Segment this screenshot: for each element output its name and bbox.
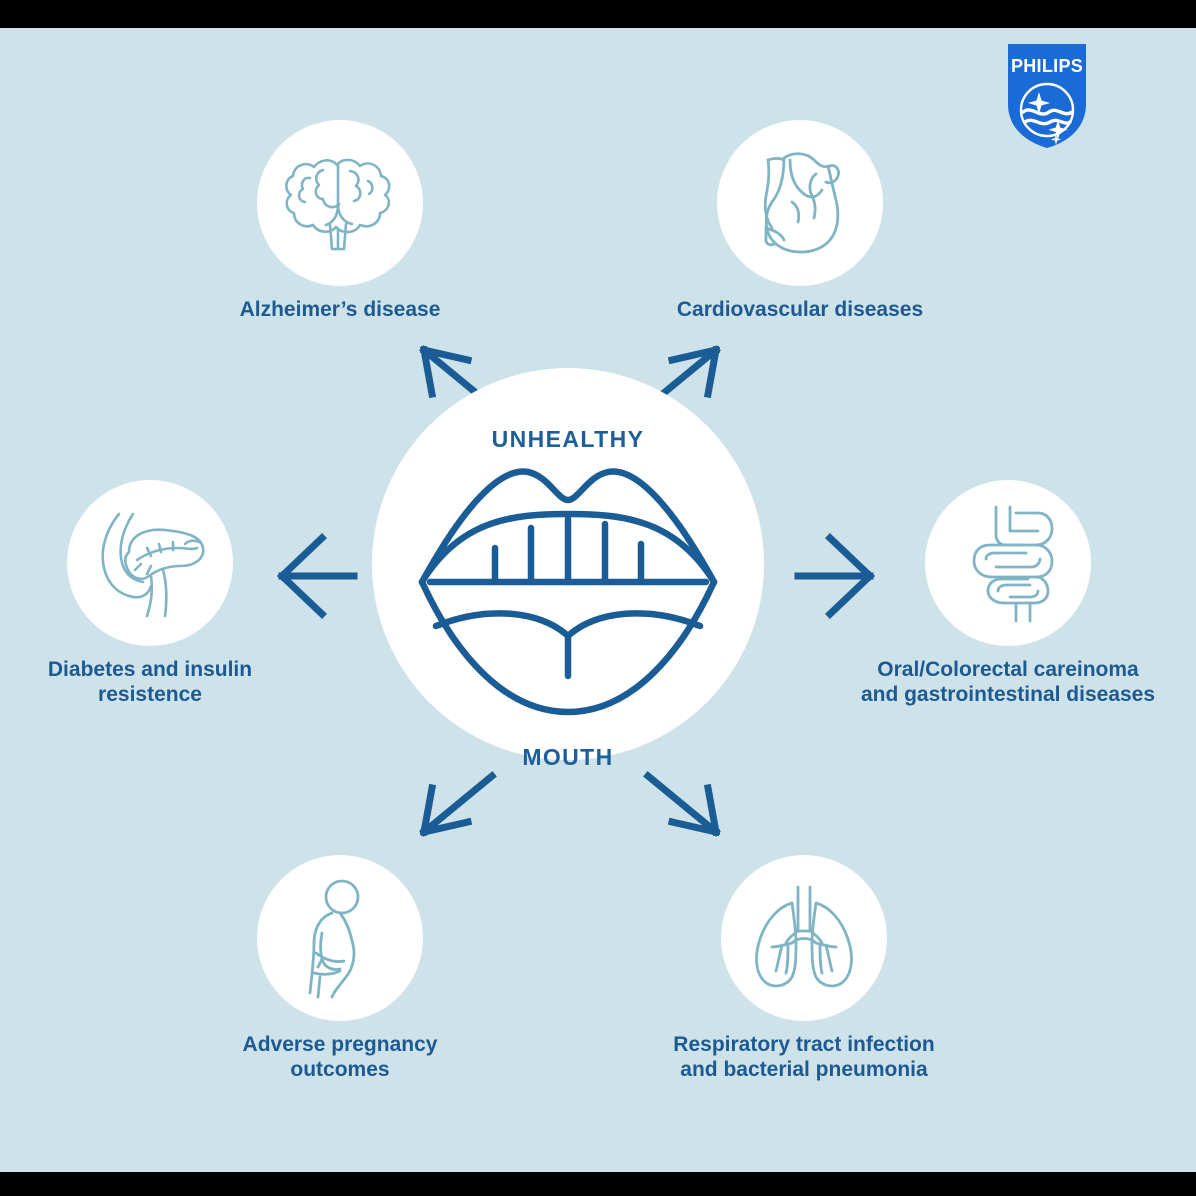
node-pregnancy-label-line2: outcomes bbox=[290, 1058, 389, 1081]
node-diabetes-label-line2: resistence bbox=[98, 683, 202, 706]
node-diabetes-label: Diabetes and insulin resistence bbox=[0, 658, 300, 708]
node-cardiovascular-label: Cardiovascular diseases bbox=[650, 298, 950, 323]
open-mouth-teeth-tongue-icon bbox=[400, 460, 736, 720]
infographic-stage: PHILIPS bbox=[0, 0, 1196, 1196]
arrow-down-left-icon bbox=[404, 768, 500, 849]
node-respiratory-label-line2: and bacterial pneumonia bbox=[680, 1058, 927, 1081]
node-diabetes-circle bbox=[67, 480, 233, 646]
philips-shield-icon: PHILIPS bbox=[1006, 42, 1088, 150]
node-respiratory-label-line1: Respiratory tract infection bbox=[673, 1033, 934, 1056]
node-alzheimers-circle bbox=[257, 120, 423, 286]
node-alzheimers[interactable]: Alzheimer’s disease bbox=[190, 120, 490, 323]
node-diabetes-label-line1: Diabetes and insulin bbox=[48, 658, 252, 681]
philips-logo: PHILIPS bbox=[1006, 42, 1088, 150]
node-respiratory[interactable]: Respiratory tract infection and bacteria… bbox=[654, 855, 954, 1083]
node-alzheimers-label: Alzheimer’s disease bbox=[190, 298, 490, 323]
central-hub: UNHEALTHY bbox=[372, 368, 764, 760]
node-respiratory-circle bbox=[721, 855, 887, 1021]
node-gastro-label-line2: and gastrointestinal diseases bbox=[861, 683, 1155, 706]
heart-icon bbox=[744, 144, 856, 262]
node-pregnancy-label-line1: Adverse pregnancy bbox=[243, 1033, 438, 1056]
hub-bottom-label: MOUTH bbox=[372, 744, 764, 771]
node-gastro-circle bbox=[925, 480, 1091, 646]
node-gastro-label: Oral/Colorectal careinoma and gastrointe… bbox=[858, 658, 1158, 708]
pregnant-woman-icon bbox=[290, 877, 390, 999]
pancreas-icon bbox=[89, 504, 211, 622]
svg-text:PHILIPS: PHILIPS bbox=[1011, 56, 1083, 76]
node-pregnancy-label: Adverse pregnancy outcomes bbox=[190, 1033, 490, 1083]
brain-icon bbox=[280, 145, 400, 261]
node-diabetes[interactable]: Diabetes and insulin resistence bbox=[0, 480, 300, 708]
node-gastro[interactable]: Oral/Colorectal careinoma and gastrointe… bbox=[858, 480, 1158, 708]
node-cardiovascular[interactable]: Cardiovascular diseases bbox=[650, 120, 950, 323]
arrow-down-right-icon bbox=[640, 768, 736, 849]
lungs-icon bbox=[742, 881, 866, 995]
node-pregnancy[interactable]: Adverse pregnancy outcomes bbox=[190, 855, 490, 1083]
infographic-canvas: PHILIPS bbox=[0, 28, 1196, 1172]
node-respiratory-label: Respiratory tract infection and bacteria… bbox=[654, 1033, 954, 1083]
node-cardiovascular-circle bbox=[717, 120, 883, 286]
node-pregnancy-circle bbox=[257, 855, 423, 1021]
intestine-icon bbox=[952, 501, 1064, 625]
hub-top-label: UNHEALTHY bbox=[372, 426, 764, 453]
node-gastro-label-line1: Oral/Colorectal careinoma bbox=[877, 658, 1138, 681]
